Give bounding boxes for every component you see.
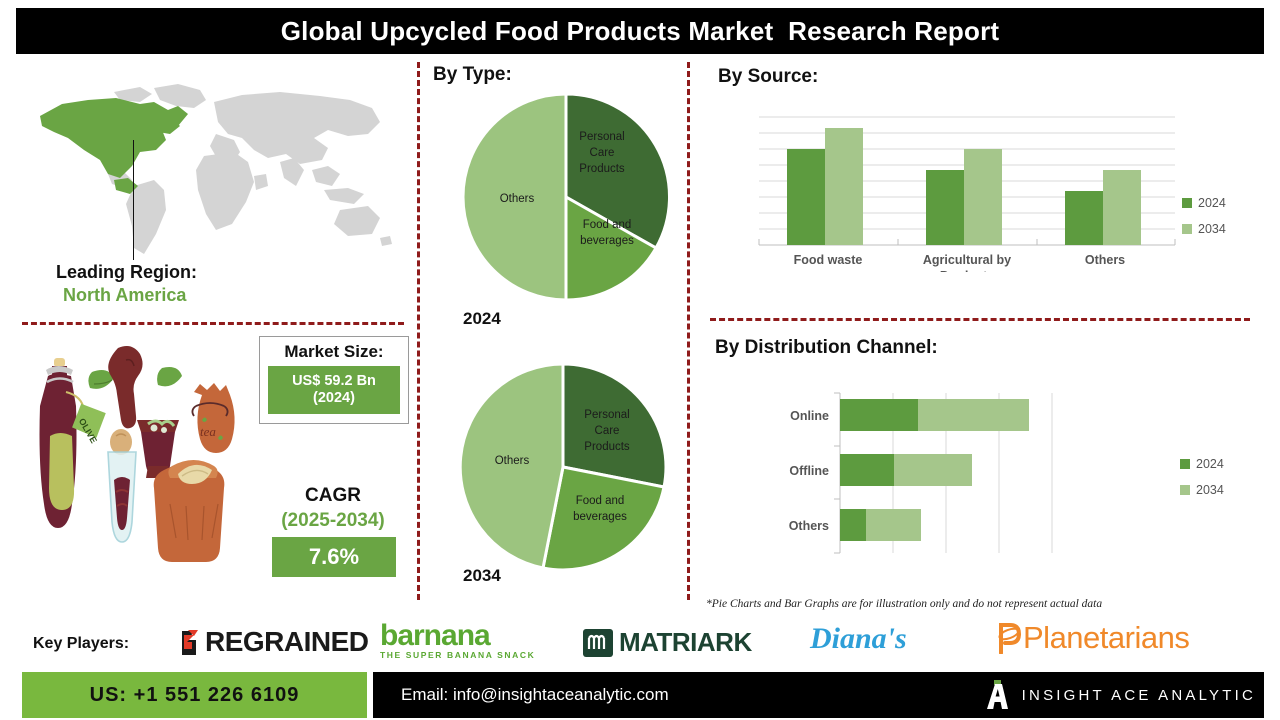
key-players-label: Key Players: [33,635,129,653]
market-size-value: US$ 59.2 Bn [292,373,376,390]
divider-vertical-right [687,62,690,600]
logo-regrained-text: REGRAINED [205,626,369,658]
bar-2034-agri-by-products [964,149,1002,245]
cagr-value-chip: 7.6% [272,537,396,577]
market-size-card: Market Size: US$ 59.2 Bn (2024) [259,336,409,424]
map-pointer-line [133,140,134,260]
legend-swatch-2024 [1182,198,1192,208]
legend-item-2034-dist: 2034 [1180,483,1224,497]
svg-text:Products: Products [940,269,994,272]
legend-label-2024-dist: 2024 [1196,457,1224,471]
pie-label-personal-care-2024: Personal [579,131,624,143]
svg-text:beverages: beverages [573,511,627,523]
bar-2024-offline [840,454,894,486]
logo-dianas-text: Diana's [810,622,907,656]
legend-item-2024: 2024 [1182,196,1226,210]
legend-by-distribution: 2024 2034 [1180,457,1224,509]
logo-matriark-text: MATRIARK [619,627,752,658]
divider-horizontal-left [22,322,404,325]
logo-planetarians: Planetarians [996,620,1189,656]
divider-horizontal-right [710,318,1250,321]
bar-ylabel-offline: Offline [789,464,829,478]
bar-2034-others-dist [866,509,921,541]
legend-label-2024: 2024 [1198,196,1226,210]
bar-2034-online [918,399,1029,431]
cagr-range: (2025-2034) [259,510,407,532]
bar-xlabel-food-waste: Food waste [794,253,863,267]
phone-bar[interactable]: US: +1 551 226 6109 [22,672,367,718]
bar-2034-food-waste [825,128,863,245]
bar-2034-offline [894,454,972,486]
bar-2024-others [1065,191,1103,245]
logo-regrained: REGRAINED [175,626,369,658]
logo-barnana-text: barnana [380,622,490,650]
bar-ylabel-others: Others [789,519,829,533]
email-address: Email: info@insightaceanalytic.com [401,685,669,705]
logo-dianas: Diana's [810,622,907,656]
logo-planetarians-text: Planetarians [1023,620,1189,656]
logo-barnana: barnana THE SUPER BANANA SNACK [380,622,535,660]
planetarians-p-icon [996,622,1022,654]
market-size-chip: US$ 59.2 Bn (2024) [268,366,400,414]
pie-label-others-2024: Others [500,193,535,205]
svg-text:Products: Products [579,163,625,175]
svg-text:tea: tea [200,424,216,439]
legend-swatch-2034 [1182,224,1192,234]
pie-label-personal-care-2034: Personal [584,409,629,421]
matriark-mark-icon [583,629,613,657]
legend-item-2034: 2034 [1182,222,1226,236]
pie-chart-2034: Personal Care Products Food and beverage… [452,356,674,578]
regrained-arrow-icon [175,627,205,657]
insight-ace-a-icon [983,680,1009,710]
header-bar: Global Upcycled Food Products Market Res… [16,8,1264,54]
market-size-title: Market Size: [284,342,383,362]
upcycled-food-illustration: OLIVE tea [22,340,257,595]
burlap-sack-icon [154,460,225,562]
phone-number: US: +1 551 226 6109 [90,684,300,707]
svg-text:Care: Care [595,425,620,437]
pie-year-2024: 2024 [463,309,501,329]
bar-chart-by-source: Food waste Agricultural by Products Othe… [745,112,1210,272]
section-title-by-type: By Type: [433,64,512,86]
market-size-year: (2024) [313,390,355,407]
bar-xlabel-agri: Agricultural by [923,253,1011,267]
cagr-title: CAGR [259,485,407,507]
bar-2024-online [840,399,918,431]
svg-text:beverages: beverages [580,235,634,247]
brand-lockup: INSIGHT ACE ANALYTIC [983,672,1256,718]
pie-label-food-bev-2024: Food and [583,219,632,231]
chart-disclaimer-note: *Pie Charts and Bar Graphs are for illus… [706,598,1102,610]
brand-name: INSIGHT ACE ANALYTIC [1022,687,1256,704]
pie-label-others-2034: Others [495,455,530,467]
svg-text:Products: Products [584,441,630,453]
logo-matriark: MATRIARK [583,627,752,658]
legend-swatch-2024-dist [1180,459,1190,469]
section-title-by-distribution: By Distribution Channel: [715,337,938,359]
page-title: Global Upcycled Food Products Market Res… [281,16,1000,47]
leading-region-label: Leading Region: [56,262,197,283]
section-title-by-source: By Source: [718,66,818,88]
bar-chart-by-distribution: Online Offline Others [745,385,1185,560]
svg-text:Care: Care [590,147,615,159]
logo-barnana-tagline: THE SUPER BANANA SNACK [380,650,535,660]
legend-swatch-2034-dist [1180,485,1190,495]
legend-label-2034-dist: 2034 [1196,483,1224,497]
pie-chart-2024: Personal Care Products Food and beverage… [455,86,677,308]
bar-2024-agri-by-products [926,170,964,245]
wooden-spoon-icon [108,346,142,428]
legend-item-2024-dist: 2024 [1180,457,1224,471]
world-map [28,78,398,268]
leading-region-value: North America [63,285,186,306]
legend-by-source: 2024 2034 [1182,196,1226,248]
pie-label-food-bev-2034: Food and [576,495,625,507]
legend-label-2034: 2034 [1198,222,1226,236]
bar-ylabel-online: Online [790,409,829,423]
bar-2024-others-dist [840,509,866,541]
bar-2024-food-waste [787,149,825,245]
divider-vertical-left [417,62,420,600]
glass-jar-icon [108,429,136,542]
bar-xlabel-others: Others [1085,253,1125,267]
bar-2034-others [1103,170,1141,245]
tea-sack-icon: tea [192,383,234,453]
pie-year-2034: 2034 [463,566,501,586]
